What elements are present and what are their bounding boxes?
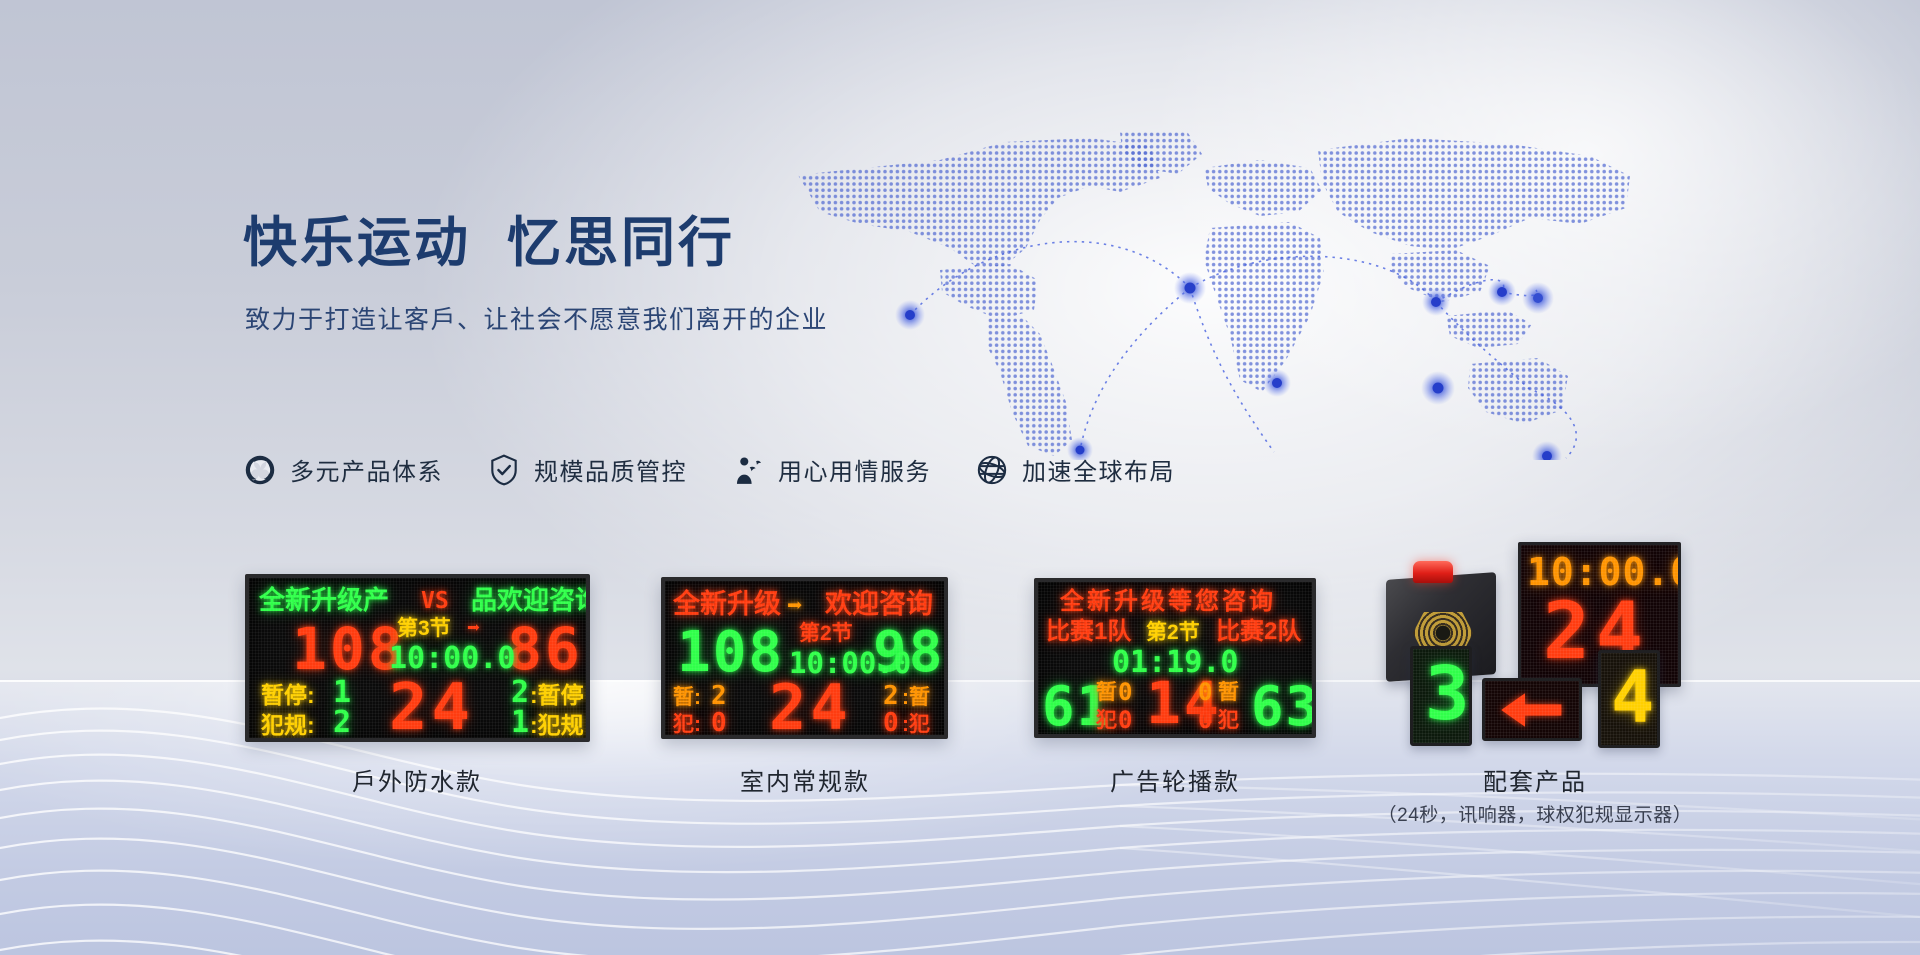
feature-list: 多元产品体系 规模品质管控 用心用情服务: [243, 452, 1175, 487]
board2-banner-right: 欢迎咨询: [825, 591, 933, 618]
buzzer-red-beacon-icon: [1413, 561, 1453, 583]
board3-home-foul-label: 犯: [1096, 710, 1117, 731]
board1-period-arrow-icon: ➡: [467, 618, 480, 640]
board3-home-timeout-label: 暂: [1096, 682, 1117, 703]
page-subtitle: 致力于打造让客戶、让社会不愿意我们离开的企业: [245, 300, 828, 336]
board2-shot-clock: 24: [769, 677, 852, 739]
possession-display-green[interactable]: 3: [1410, 646, 1472, 746]
hero-banner: 快乐运动 忆思同行 致力于打造让客戶、让社会不愿意我们离开的企业 多元产品体系 …: [0, 0, 1920, 955]
globe-icon: [975, 453, 1009, 487]
possession-arrow-display[interactable]: [1482, 678, 1582, 741]
board1-game-clock: 10:00.0: [389, 644, 515, 674]
board1-banner-right: 品欢迎咨询: [471, 587, 590, 613]
scoreboard-advertising-rotation[interactable]: 全新升级等您咨询 比赛1队 第2节 比赛2队 01:19.0 61 63 暂 0…: [1034, 578, 1316, 738]
feature-item-service[interactable]: 用心用情服务: [731, 452, 931, 487]
page-title: 快乐运动 忆思同行: [243, 198, 735, 277]
board1-home-timeout: 1: [333, 678, 351, 708]
board3-period: 第2节: [1146, 622, 1200, 643]
board3-home-foul: 0: [1118, 708, 1132, 732]
board1-away-timeout-label: :暂停: [530, 684, 584, 707]
board1-away-foul-label: :犯规: [530, 714, 584, 737]
service-person-icon: [731, 453, 765, 487]
board1-shot-clock: 24: [389, 676, 474, 740]
board1-away-score: 86: [507, 620, 583, 678]
board1-home-foul: 2: [333, 708, 351, 738]
board2-away-timeout: 2: [883, 683, 899, 709]
board2-home-foul-label: 犯:: [673, 714, 701, 735]
board2-away-timeout-label: :暂: [902, 687, 930, 708]
board1-home-timeout-label: 暂停:: [261, 684, 315, 707]
board3-away-foul: 0: [1198, 708, 1212, 732]
board2-away-foul-label: :犯: [902, 714, 930, 735]
scoreboard-outdoor-waterproof[interactable]: 全新升级产 VS 品欢迎咨询 108 86 第3节 ➡ 10:00.0 暂停: …: [245, 574, 590, 742]
shield-check-icon: [487, 453, 521, 487]
board2-period: 第2节: [799, 623, 853, 644]
board3-away-timeout: 0: [1198, 680, 1212, 704]
caption-accessories: 配套产品: [1405, 762, 1665, 797]
board3-banner-top: 全新升级等您咨询: [1060, 590, 1276, 614]
foul-display-yellow[interactable]: 4: [1598, 650, 1660, 748]
foul-display-value: 4: [1611, 661, 1654, 733]
board2-away-foul: 0: [883, 710, 899, 736]
board1-home-foul-label: 犯规:: [261, 714, 315, 737]
feature-item-product-system[interactable]: 多元产品体系: [243, 452, 443, 487]
scoreboard-indoor-standard[interactable]: 全新升级 ➡ 欢迎咨询 108 98 第2节 10:00.0 暂: 2 犯: 0…: [661, 577, 948, 739]
board2-home-foul: 0: [711, 710, 727, 736]
world-map-graphic: [790, 120, 1650, 460]
board1-banner-left: 全新升级产: [259, 587, 389, 613]
board1-banner-vs: VS: [421, 590, 449, 613]
board1-away-timeout: 2: [511, 678, 529, 708]
board3-team-away: 比赛2队: [1216, 620, 1301, 644]
feature-item-global-layout[interactable]: 加速全球布局: [975, 452, 1175, 487]
left-arrow-icon: [1491, 689, 1573, 731]
board2-home-timeout-label: 暂:: [673, 687, 701, 708]
board2-banner-arrow-icon: ➡: [787, 593, 803, 619]
board3-away-timeout-label: 暂: [1218, 682, 1239, 703]
board2-home-timeout: 2: [711, 683, 727, 709]
cycle-icon: [243, 453, 277, 487]
board1-away-foul: 1: [511, 708, 529, 738]
feature-label: 用心用情服务: [778, 452, 931, 487]
possession-value: 3: [1425, 657, 1470, 731]
board3-home-timeout: 0: [1118, 680, 1132, 704]
feature-label: 多元产品体系: [290, 452, 443, 487]
board3-away-foul-label: 犯: [1218, 710, 1239, 731]
board2-banner-left: 全新升级: [673, 591, 781, 618]
subcaption-accessories: （24秒，讯响器，球权犯规显示器）: [1355, 800, 1715, 827]
caption-advertising-rotation: 广告轮播款: [1030, 762, 1320, 797]
board3-away-score: 63: [1251, 680, 1316, 734]
caption-indoor-standard: 室内常规款: [660, 762, 950, 797]
feature-label: 规模品质管控: [534, 452, 687, 487]
feature-item-quality-control[interactable]: 规模品质管控: [487, 452, 687, 487]
shot-clock-panel-time: 10:00.0: [1527, 553, 1681, 591]
feature-label: 加速全球布局: [1022, 452, 1175, 487]
board3-team-home: 比赛1队: [1046, 620, 1131, 644]
caption-outdoor-waterproof: 戶外防水款: [272, 762, 562, 797]
accessory-products-group[interactable]: 10:00.0 24 3 4: [1370, 538, 1700, 753]
board1-period: 第3节: [397, 618, 451, 639]
